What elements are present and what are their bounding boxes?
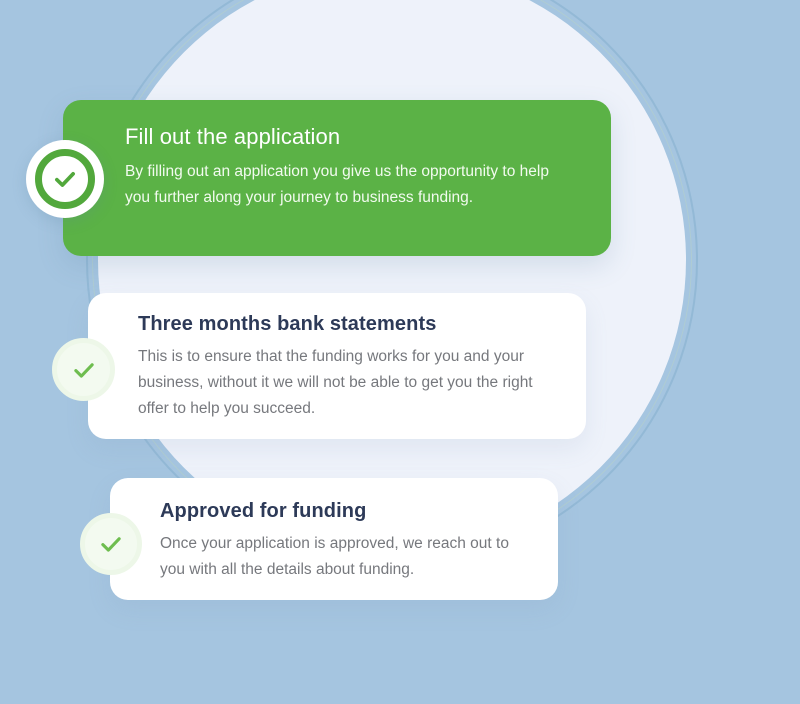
check-icon [71, 357, 97, 383]
step-status-badge-2 [52, 338, 115, 401]
check-icon [98, 531, 124, 557]
check-icon [52, 166, 78, 192]
check-icon-ring [35, 149, 95, 209]
step-card-content: Fill out the application By filling out … [63, 100, 611, 256]
step-title: Three months bank statements [138, 313, 560, 336]
step-card-approved-for-funding[interactable]: Approved for funding Once your applicati… [110, 478, 558, 600]
step-title: Approved for funding [160, 500, 532, 523]
step-card-content: Approved for funding Once your applicati… [110, 478, 558, 600]
step-title: Fill out the application [125, 124, 581, 150]
step-description: Once your application is approved, we re… [160, 531, 532, 583]
step-card-content: Three months bank statements This is to … [88, 293, 586, 439]
step-card-fill-out-the-application[interactable]: Fill out the application By filling out … [63, 100, 611, 256]
step-description: This is to ensure that the funding works… [138, 344, 560, 422]
step-status-badge-3 [80, 513, 142, 575]
step-status-badge-1 [26, 140, 104, 218]
step-description: By filling out an application you give u… [125, 159, 565, 211]
step-card-three-months-bank-statements[interactable]: Three months bank statements This is to … [88, 293, 586, 439]
funding-steps-illustration: Fill out the application By filling out … [0, 0, 800, 704]
